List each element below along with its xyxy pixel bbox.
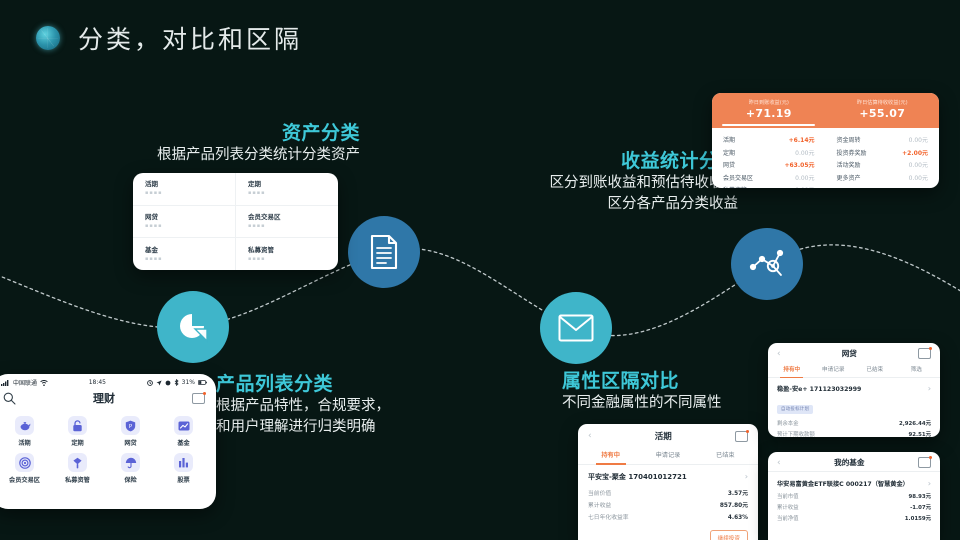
message-icon[interactable]	[735, 431, 748, 442]
card-header: ‹ 网贷	[768, 343, 940, 362]
grid-tile[interactable]: 基金	[157, 416, 210, 447]
phone-nav-title: 理财	[93, 390, 115, 406]
asset-placeholder-dots: ▪▪▪▪	[145, 189, 235, 197]
asset-placeholder-dots: ▪▪▪▪	[248, 255, 338, 263]
income-header-label: 昨日估算待收收益(元)	[826, 99, 940, 107]
battery-percent: 31%	[182, 379, 195, 386]
asset-cell[interactable]: 定期 ▪▪▪▪	[236, 173, 338, 206]
section-attribute-text: 属性区隔对比 不同金融属性的不同属性	[562, 366, 792, 414]
income-value: 0.00元	[909, 173, 928, 186]
income-value: 0.00元	[795, 173, 814, 186]
income-value: 0.00元	[795, 185, 814, 188]
asset-cell[interactable]: 基金 ▪▪▪▪	[133, 238, 235, 270]
income-header-tab[interactable]: 昨日到账收益(元) +71.19	[712, 99, 826, 121]
grid-tile-label: 活期	[18, 438, 30, 447]
tab-applications[interactable]: 申请记录	[639, 446, 696, 464]
chevron-right-icon: ›	[928, 385, 931, 393]
circle-target-icon	[15, 453, 34, 472]
section-heading: 产品列表分类	[216, 369, 466, 396]
income-header-value: +55.07	[826, 107, 940, 121]
income-breakdown: 活期 +6.14元 定期 0.00元 网贷 +63.05元 会员交易区 0.00…	[712, 128, 939, 188]
product-detail-rows: 当前市值 98.93元 累计收益 -1.07元 当前净值 1.0159元	[768, 490, 940, 525]
detail-key: 七日年化收益率	[588, 512, 629, 524]
section-income-text: 收益统计分类 区分到账收益和预估待收收益 区分各产品分类收益	[398, 146, 738, 215]
diamond-icon	[68, 453, 87, 472]
detail-key: 当前市值	[777, 492, 799, 503]
phone-status-bar: 中国联通 18:45	[0, 374, 216, 388]
network-graph-icon	[749, 248, 785, 280]
card-title: 网贷	[842, 348, 857, 359]
signal-bars-icon	[1, 380, 10, 386]
asset-cell[interactable]: 活期 ▪▪▪▪	[133, 173, 235, 206]
income-key: 活期	[723, 135, 735, 148]
product-name: 稳盈-安e+ 171123032999	[777, 384, 861, 393]
pie-chart-icon	[176, 310, 210, 344]
detail-value: 92.51元	[909, 430, 931, 438]
grid-tile[interactable]: 私募资管	[51, 453, 104, 484]
detail-key: 预计下期收款额	[777, 430, 815, 438]
asset-placeholder-dots: ▪▪▪▪	[145, 222, 235, 230]
phone-nav-bar: 理财	[0, 388, 216, 411]
bluetooth-icon	[174, 379, 179, 386]
piggy-bank-icon	[15, 416, 34, 435]
section-line: 不同金融属性的不同属性	[562, 393, 792, 414]
alarm-icon	[147, 380, 153, 386]
product-name: 华安易富黄金ETF联接C 000217（智慧黄金）	[777, 479, 909, 488]
income-value: 0.00元	[909, 160, 928, 173]
grid-tile[interactable]: 会员交易区	[0, 453, 51, 484]
detail-value: 857.80元	[720, 500, 748, 512]
asset-placeholder-dots: ▪▪▪▪	[145, 255, 235, 263]
my-fund-card: ‹ 我的基金 华安易富黄金ETF联接C 000217（智慧黄金） › 当前市值 …	[768, 452, 940, 540]
detail-row: 当前市值 98.93元	[777, 492, 931, 503]
detail-key: 当前净值	[777, 514, 799, 525]
grid-tile-label: 网贷	[124, 438, 136, 447]
detail-value: 4.63%	[728, 512, 748, 524]
tab-filter[interactable]: 筛选	[896, 362, 938, 377]
income-value: +63.05元	[784, 160, 814, 173]
trend-up-icon	[174, 416, 193, 435]
node-pie-chart[interactable]	[157, 291, 229, 363]
income-key: 定期	[723, 148, 735, 161]
income-column-right: 资金周转 0.00元 投资券奖励 +2.00元 活动奖励 0.00元 更多资产 …	[826, 135, 940, 188]
income-value: 0.00元	[795, 148, 814, 161]
income-row: 更多资产 0.00元	[837, 173, 929, 186]
battery-icon	[198, 380, 207, 385]
income-key: 资金周转	[837, 135, 861, 148]
wealth-category-grid: 活期 定期 P 网贷 基金	[0, 411, 216, 493]
lock-icon	[68, 416, 87, 435]
continue-invest-button[interactable]: 继续投资	[710, 530, 748, 540]
back-chevron-icon[interactable]: ‹	[777, 458, 781, 468]
shield-p-icon: P	[121, 416, 140, 435]
income-statistics-card: 昨日到账收益(元) +71.19 昨日估算待收收益(元) +55.07 活期 +…	[712, 93, 939, 188]
asset-column-left: 活期 ▪▪▪▪ 网贷 ▪▪▪▪ 基金 ▪▪▪▪	[133, 173, 236, 270]
section-asset-text: 资产分类 根据产品列表分类统计分类资产	[60, 118, 360, 166]
product-row[interactable]: 华安易富黄金ETF联接C 000217（智慧黄金） ›	[768, 471, 940, 490]
grid-tile[interactable]: 股票	[157, 453, 210, 484]
rotation-lock-icon	[165, 380, 171, 386]
section-line: 区分各产品分类收益	[398, 194, 738, 215]
wangdai-holdings-card: ‹ 网贷 持有中 申请记录 已结束 筛选 稳盈-安e+ 171123032999…	[768, 343, 940, 437]
grid-tile-label: 保险	[124, 475, 136, 484]
income-column-left: 活期 +6.14元 定期 0.00元 网贷 +63.05元 会员交易区 0.00…	[712, 135, 826, 188]
slide-canvas: 分类，对比和区隔 资产分类 根据产品列表分类统计分类资产 收益统计分类 区分到账…	[0, 0, 960, 540]
message-icon[interactable]	[192, 393, 205, 404]
income-row: 活动奖励 0.00元	[837, 160, 929, 173]
card-tabs: 持有中 申请记录 已结束 筛选	[768, 362, 940, 378]
asset-placeholder-dots: ▪▪▪▪	[248, 222, 338, 230]
income-row: 资金周转 0.00元	[837, 135, 929, 148]
income-key: 私募资管	[723, 185, 747, 188]
tab-finished[interactable]: 已结束	[854, 362, 896, 377]
node-envelope[interactable]	[540, 292, 612, 364]
income-row: 活期 +6.14元	[723, 135, 815, 148]
page-title: 分类，对比和区隔	[78, 20, 302, 56]
chevron-right-icon: ›	[745, 473, 748, 481]
location-arrow-icon	[156, 380, 162, 386]
detail-row: 剩余本金 2,926.44元	[777, 419, 931, 430]
income-header-value: +71.19	[712, 107, 826, 121]
card-header: ‹ 我的基金	[768, 452, 940, 471]
action-button-wrap: 继续投资	[578, 524, 758, 540]
clock-label: 18:45	[89, 379, 106, 386]
section-line: 根据产品特性，合规要求，	[216, 396, 466, 417]
message-icon[interactable]	[918, 457, 931, 468]
document-icon	[368, 234, 400, 270]
asset-label: 活期	[145, 180, 235, 189]
umbrella-icon	[121, 453, 140, 472]
income-row: 定期 0.00元	[723, 148, 815, 161]
detail-row: 七日年化收益率 4.63%	[588, 512, 748, 524]
back-chevron-icon[interactable]: ‹	[777, 349, 781, 359]
grid-tile[interactable]: 定期	[51, 416, 104, 447]
grid-tile-label: 会员交易区	[9, 475, 40, 484]
detail-row: 当前价值 3.57元	[588, 488, 748, 500]
tab-applications[interactable]: 申请记录	[813, 362, 855, 377]
asset-cell[interactable]: 私募资管 ▪▪▪▪	[236, 238, 338, 270]
income-header: 昨日到账收益(元) +71.19 昨日估算待收收益(元) +55.07	[712, 93, 939, 128]
wifi-icon	[40, 380, 48, 386]
tab-holding[interactable]: 持有中	[771, 362, 813, 377]
product-name: 平安宝-聚金 170401012721	[588, 472, 687, 482]
asset-category-card: 活期 ▪▪▪▪ 网贷 ▪▪▪▪ 基金 ▪▪▪▪ 定期 ▪▪▪▪ 会员	[133, 173, 338, 270]
slide-title-row: 分类，对比和区隔	[36, 20, 302, 56]
detail-row: 累计收益 -1.07元	[777, 503, 931, 514]
detail-key: 当前价值	[588, 488, 611, 500]
detail-row: 累计收益 857.80元	[588, 500, 748, 512]
card-tabs: 持有中 申请记录 已结束	[578, 446, 758, 465]
income-value: +6.14元	[789, 135, 815, 148]
income-key: 更多资产	[837, 173, 861, 186]
tab-holding[interactable]: 持有中	[582, 446, 639, 464]
grid-tile[interactable]: P 网贷	[104, 416, 157, 447]
income-header-label: 昨日到账收益(元)	[712, 99, 826, 107]
section-line: 区分到账收益和预估待收收益	[398, 173, 738, 194]
active-tab-underline	[722, 124, 815, 126]
detail-row: 预计下期收款额 92.51元	[777, 430, 931, 438]
card-title: 我的基金	[834, 457, 864, 468]
income-row: 网贷 +63.05元	[723, 160, 815, 173]
income-value: +2.00元	[902, 148, 928, 161]
section-product-list-text: 产品列表分类 根据产品特性，合规要求， 和用户理解进行归类明确	[216, 369, 466, 438]
grid-tile[interactable]: 活期	[0, 416, 51, 447]
income-key: 网贷	[723, 160, 735, 173]
detail-value: 2,926.44元	[899, 419, 931, 430]
section-heading: 收益统计分类	[398, 146, 738, 173]
asset-label: 定期	[248, 180, 338, 189]
product-detail-rows: 当前价值 3.57元 累计收益 857.80元 七日年化收益率 4.63%	[578, 488, 758, 524]
grid-tile-label: 定期	[71, 438, 83, 447]
message-icon[interactable]	[918, 348, 931, 359]
income-key: 会员交易区	[723, 173, 753, 186]
income-key: 活动奖励	[837, 160, 861, 173]
income-row: 投资券奖励 +2.00元	[837, 148, 929, 161]
detail-value: 3.57元	[728, 488, 748, 500]
section-heading: 属性区隔对比	[562, 366, 792, 393]
card-header: ‹ 活期	[578, 424, 758, 446]
huoqi-holdings-card: ‹ 活期 持有中 申请记录 已结束 平安宝-聚金 170401012721 › …	[578, 424, 758, 540]
asset-label: 基金	[145, 246, 235, 255]
income-row: 会员交易区 0.00元	[723, 173, 815, 186]
asset-label: 私募资管	[248, 246, 338, 255]
tab-finished[interactable]: 已结束	[697, 446, 754, 464]
chevron-right-icon: ›	[928, 480, 931, 488]
income-row: 私募资管 0.00元	[723, 185, 815, 188]
envelope-icon	[558, 314, 594, 342]
bar-chart-icon	[174, 453, 193, 472]
income-key: 投资券奖励	[837, 148, 867, 161]
grid-tile-label: 私募资管	[65, 475, 90, 484]
carrier-label: 中国联通	[13, 378, 37, 387]
detail-key: 累计收益	[588, 500, 611, 512]
asset-column-right: 定期 ▪▪▪▪ 会员交易区 ▪▪▪▪ 私募资管 ▪▪▪▪	[236, 173, 338, 270]
asset-cell[interactable]: 会员交易区 ▪▪▪▪	[236, 206, 338, 239]
detail-key: 累计收益	[777, 503, 799, 514]
card-title: 活期	[655, 430, 672, 442]
grid-tile[interactable]: 保险	[104, 453, 157, 484]
product-row[interactable]: 平安宝-聚金 170401012721 ›	[578, 465, 758, 488]
product-detail-rows: 剩余本金 2,926.44元 预计下期收款额 92.51元 预计下期收款日 20…	[768, 417, 940, 438]
detail-value: -1.07元	[910, 503, 931, 514]
search-icon[interactable]	[3, 392, 16, 405]
asset-label: 会员交易区	[248, 213, 338, 222]
grid-tile-label: 股票	[177, 475, 189, 484]
detail-row: 当前净值 1.0159元	[777, 514, 931, 525]
section-line: 和用户理解进行归类明确	[216, 417, 466, 438]
back-chevron-icon[interactable]: ‹	[588, 431, 592, 441]
detail-value: 1.0159元	[905, 514, 931, 525]
detail-value: 98.93元	[909, 492, 931, 503]
section-line: 根据产品列表分类统计分类资产	[60, 145, 360, 166]
asset-placeholder-dots: ▪▪▪▪	[248, 189, 338, 197]
income-value: 0.00元	[909, 135, 928, 148]
section-heading: 资产分类	[60, 118, 360, 145]
globe-bullet-icon	[36, 26, 60, 50]
income-header-tab[interactable]: 昨日估算待收收益(元) +55.07	[826, 99, 940, 121]
status-badge: 自动投标计划	[777, 405, 813, 414]
node-network-graph[interactable]	[731, 228, 803, 300]
asset-cell[interactable]: 网贷 ▪▪▪▪	[133, 206, 235, 239]
product-row[interactable]: 稳盈-安e+ 171123032999 ›	[768, 378, 940, 395]
asset-label: 网贷	[145, 213, 235, 222]
phone-mockup-wealth-home: 中国联通 18:45	[0, 374, 216, 509]
detail-key: 剩余本金	[777, 419, 799, 430]
node-document[interactable]	[348, 216, 420, 288]
grid-tile-label: 基金	[177, 438, 189, 447]
